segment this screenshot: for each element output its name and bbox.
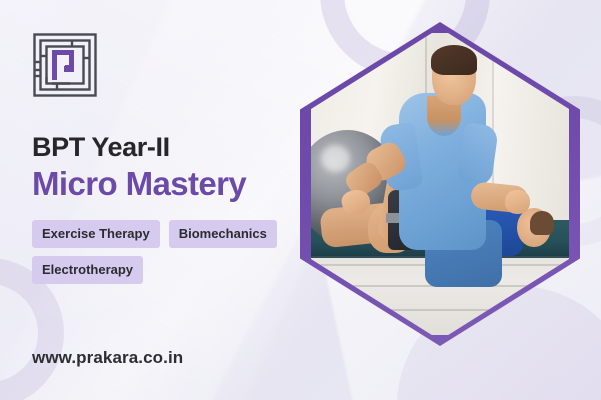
promo-banner: BPT Year-II Micro Mastery Exercise Thera… xyxy=(0,0,601,400)
topic-tag-biomechanics[interactable]: Biomechanics xyxy=(169,220,277,248)
headline-line-2: Micro Mastery xyxy=(32,165,322,203)
maze-p-logo-icon xyxy=(32,32,98,98)
topic-tag-exercise-therapy[interactable]: Exercise Therapy xyxy=(32,220,160,248)
headline-line-1: BPT Year-II xyxy=(32,132,322,162)
photo-therapist-hair xyxy=(431,45,477,75)
photo-patient-hair xyxy=(530,211,553,235)
photo-therapist-hand-right xyxy=(505,190,531,214)
photo-floor-plank xyxy=(311,309,569,311)
physiotherapy-photo xyxy=(311,33,569,335)
headline-block: BPT Year-II Micro Mastery Exercise Thera… xyxy=(32,132,322,284)
topic-tag-electrotherapy[interactable]: Electrotherapy xyxy=(32,256,143,284)
topic-tag-list: Exercise Therapy Biomechanics Electrothe… xyxy=(32,220,310,284)
photo-exercise-ball-highlight xyxy=(321,145,349,172)
website-url[interactable]: www.prakara.co.in xyxy=(32,348,183,368)
hexagon-photo-frame xyxy=(300,22,580,346)
